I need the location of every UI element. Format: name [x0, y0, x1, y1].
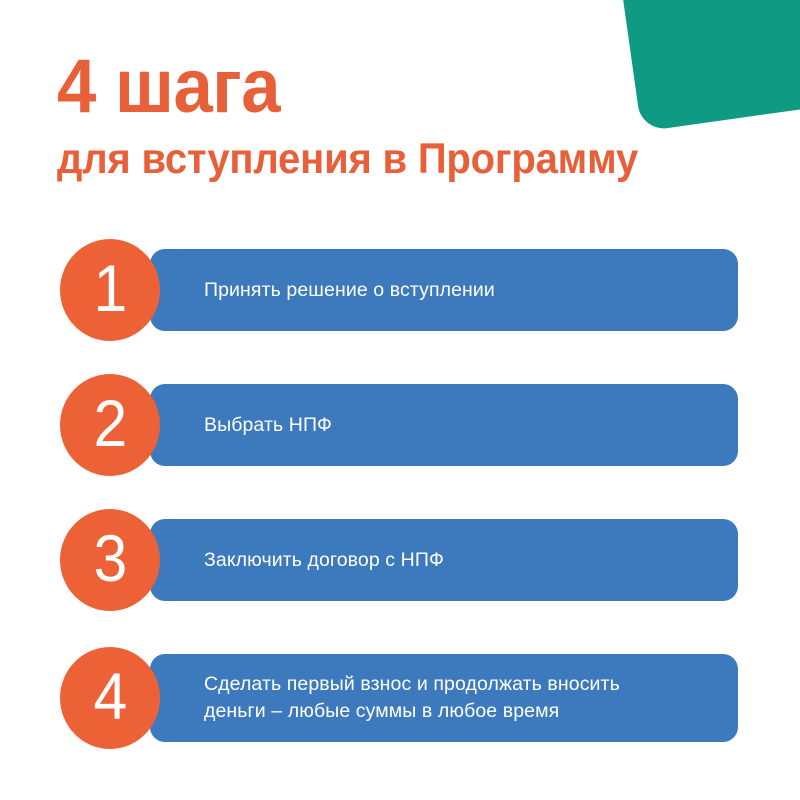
step-number-text-2: 2 [93, 390, 127, 456]
step-label-1: Принять решение о вступлении [150, 277, 519, 304]
step-bar-2: Выбрать НПФ [150, 384, 738, 466]
step-label-3: Заключить договор с НПФ [150, 547, 468, 574]
infographic-poster: 4 шага для вступления в Программу Принят… [0, 0, 800, 800]
step-number-badge-3: 3 [60, 509, 160, 611]
step-bar-3: Заключить договор с НПФ [150, 519, 738, 601]
step-number-text-1: 1 [93, 255, 127, 321]
step-number-badge-2: 2 [60, 374, 160, 476]
step-bar-1: Принять решение о вступлении [150, 249, 738, 331]
step-label-2: Выбрать НПФ [150, 412, 356, 439]
steps-list: Принять решение о вступлении 1 Выбрать Н… [0, 0, 800, 800]
step-number-text-4: 4 [93, 663, 127, 729]
step-number-badge-4: 4 [60, 647, 160, 749]
step-label-4: Сделать первый взнос и продолжать вносит… [150, 671, 644, 725]
step-bar-4: Сделать первый взнос и продолжать вносит… [150, 654, 738, 742]
step-number-text-3: 3 [93, 525, 127, 591]
step-number-badge-1: 1 [60, 239, 160, 341]
